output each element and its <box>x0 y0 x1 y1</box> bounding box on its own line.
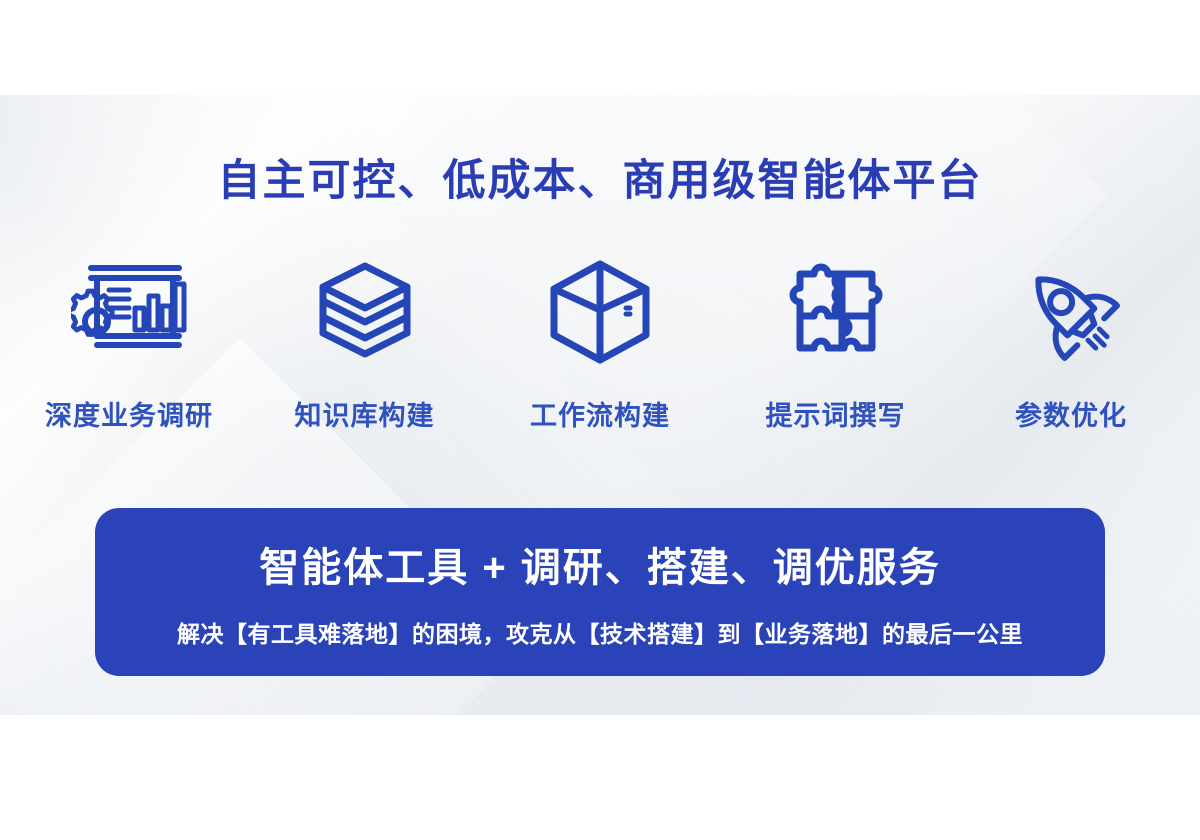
feature-item-parameter-tuning[interactable]: 参数优化 <box>960 252 1182 433</box>
feature-label: 知识库构建 <box>295 394 435 433</box>
feature-item-workflow[interactable]: 工作流构建 <box>489 252 711 433</box>
feature-label: 工作流构建 <box>530 394 670 433</box>
rocket-icon <box>1013 252 1129 372</box>
feature-item-prompt-writing[interactable]: 提示词撰写 <box>725 252 947 433</box>
highlight-banner: 智能体工具 + 调研、搭建、调优服务 解决【有工具难落地】的困境，攻克从【技术搭… <box>95 508 1105 676</box>
page-title: 自主可控、低成本、商用级智能体平台 <box>0 146 1200 208</box>
stacked-layers-icon <box>307 252 423 372</box>
feature-label: 提示词撰写 <box>766 394 906 433</box>
feature-label: 参数优化 <box>1015 394 1127 433</box>
banner-title: 智能体工具 + 调研、搭建、调优服务 <box>259 535 941 593</box>
feature-label: 深度业务调研 <box>45 394 213 433</box>
banner-subtitle: 解决【有工具难落地】的困境，攻克从【技术搭建】到【业务落地】的最后一公里 <box>177 615 1023 649</box>
feature-item-business-research[interactable]: 深度业务调研 <box>18 252 240 433</box>
feature-item-knowledge-base[interactable]: 知识库构建 <box>254 252 476 433</box>
wireframe-cube-icon <box>542 252 658 372</box>
puzzle-pieces-icon <box>778 252 894 372</box>
chart-board-gear-icon <box>71 252 187 372</box>
slide-canvas: 自主可控、低成本、商用级智能体平台 <box>0 0 1200 840</box>
feature-row: 深度业务调研 <box>0 252 1200 433</box>
